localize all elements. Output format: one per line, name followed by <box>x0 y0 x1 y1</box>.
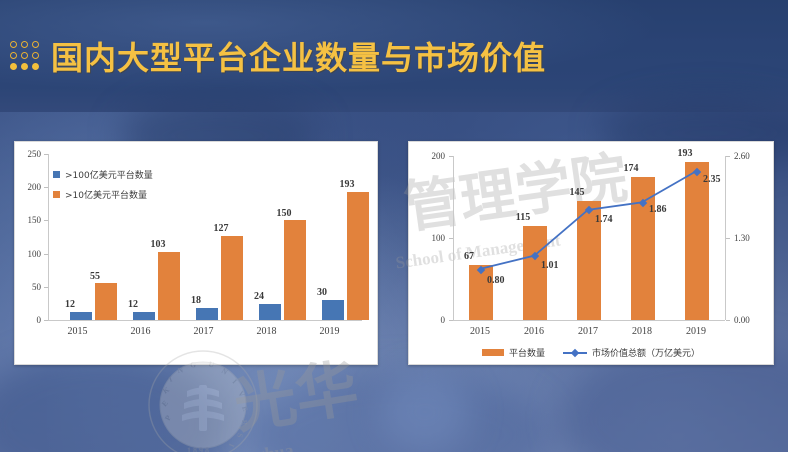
bar-orange-2017[interactable] <box>221 236 243 320</box>
value-label-orange-2015: 55 <box>84 271 106 282</box>
tick-mark <box>726 156 730 157</box>
svg-text:N: N <box>220 366 230 377</box>
legend-label-market-value: 市场价值总额（万亿美元） <box>592 346 700 359</box>
bar-blue-2018[interactable] <box>259 304 281 320</box>
left-chart-y-tick-label: 50 <box>17 282 41 292</box>
legend-swatch-orange-icon <box>53 191 60 198</box>
dot-grid-icon <box>10 41 39 72</box>
svg-text:V: V <box>236 389 247 399</box>
left-chart-y-tick-label: 0 <box>17 315 41 325</box>
left-chart-y-tick-label: 200 <box>17 182 41 192</box>
right-chart-x-tick-label: 2015 <box>453 326 507 337</box>
right-chart-y-tick-label: 200 <box>419 151 445 161</box>
tick-mark <box>726 238 730 239</box>
svg-text:G: G <box>190 360 197 369</box>
bar-blue-2017[interactable] <box>196 308 218 320</box>
left-chart-legend: >100亿美元平台数量 >10亿美元平台数量 <box>53 168 153 208</box>
left-chart-x-tick-label: 2017 <box>180 326 227 337</box>
right-chart-y2-tick-label: 2.60 <box>734 151 750 161</box>
right-chart-plot-area: 管理学院 School of Management 200 100 0 2.60… <box>409 142 773 364</box>
value-label-orange-2016: 103 <box>147 239 169 250</box>
legend-item-platform-count[interactable]: 平台数量 <box>482 346 545 359</box>
legend-item-orange[interactable]: >10亿美元平台数量 <box>53 188 153 201</box>
right-chart-panel: 管理学院 School of Management 200 100 0 2.60… <box>408 141 774 365</box>
background-blur-blob <box>380 372 470 452</box>
left-chart-y-tick-label: 250 <box>17 149 41 159</box>
right-chart-x-tick-label: 2018 <box>615 326 669 337</box>
value-label-value-2015: 0.80 <box>487 275 505 286</box>
background-blur-blob <box>0 350 230 452</box>
bar-blue-2019[interactable] <box>322 300 344 320</box>
bar-count-2019[interactable] <box>685 162 709 320</box>
value-label-count-2015: 67 <box>457 251 481 262</box>
tick-mark <box>726 320 730 321</box>
legend-item-market-value[interactable]: 市场价值总额（万亿美元） <box>563 346 700 359</box>
slide-canvas: 国内大型平台企业数量与市场价值 P E K I <box>0 0 788 452</box>
right-chart-y-tick-label: 100 <box>419 233 445 243</box>
tick-mark <box>44 320 48 321</box>
value-label-blue-2015: 12 <box>59 299 81 310</box>
right-chart-legend: 平台数量 市场价值总额（万亿美元） <box>409 346 773 359</box>
value-label-orange-2018: 150 <box>273 208 295 219</box>
svg-text:I: I <box>227 442 236 448</box>
svg-text:R: R <box>240 420 249 427</box>
legend-label-orange: >10亿美元平台数量 <box>65 188 147 201</box>
value-label-orange-2019: 193 <box>336 179 358 190</box>
bar-orange-2018[interactable] <box>284 220 306 320</box>
legend-swatch-line-icon <box>563 348 587 357</box>
value-label-value-2018: 1.86 <box>649 204 667 215</box>
bar-orange-2019[interactable] <box>347 192 369 320</box>
value-label-blue-2019: 30 <box>311 287 333 298</box>
right-chart-y2-tick-label: 0.00 <box>734 315 750 325</box>
right-chart-x-axis <box>453 320 725 321</box>
left-chart-x-tick-label: 2016 <box>117 326 164 337</box>
bar-orange-2016[interactable] <box>158 252 180 320</box>
right-chart-x-tick-label: 2017 <box>561 326 615 337</box>
left-chart-y-tick-label: 100 <box>17 249 41 259</box>
bar-blue-2016[interactable] <box>133 312 155 320</box>
legend-swatch-bar-icon <box>482 349 504 356</box>
left-chart-x-tick-label: 2015 <box>54 326 101 337</box>
tick-mark <box>449 320 453 321</box>
value-label-count-2018: 174 <box>619 163 643 174</box>
left-chart-y-tick-label: 150 <box>17 215 41 225</box>
value-label-value-2017: 1.74 <box>595 214 613 225</box>
value-label-blue-2017: 18 <box>185 295 207 306</box>
value-label-count-2016: 115 <box>511 212 535 223</box>
bar-blue-2015[interactable] <box>70 312 92 320</box>
left-chart-x-axis <box>48 320 362 321</box>
value-label-value-2016: 1.01 <box>541 260 559 271</box>
right-chart-y-tick-label: 0 <box>419 315 445 325</box>
value-label-value-2019: 2.35 <box>703 174 721 185</box>
value-label-orange-2017: 127 <box>210 223 232 234</box>
bar-orange-2015[interactable] <box>95 283 117 320</box>
legend-swatch-blue-icon <box>53 171 60 178</box>
value-label-blue-2016: 12 <box>122 299 144 310</box>
legend-item-blue[interactable]: >100亿美元平台数量 <box>53 168 153 181</box>
left-chart-plot-area: P E K I N G U N I V E R S I T Y 1898 <box>15 142 377 364</box>
left-chart-panel: P E K I N G U N I V E R S I T Y 1898 <box>14 141 378 365</box>
legend-label-blue: >100亿美元平台数量 <box>65 168 153 181</box>
left-chart-x-tick-label: 2019 <box>306 326 353 337</box>
right-chart-bars <box>453 156 725 320</box>
slide-header: 国内大型平台企业数量与市场价值 <box>10 26 546 86</box>
svg-text:U: U <box>207 359 215 369</box>
right-chart-x-tick-label: 2019 <box>669 326 723 337</box>
value-label-blue-2018: 24 <box>248 291 270 302</box>
right-chart-x-tick-label: 2016 <box>507 326 561 337</box>
value-label-count-2019: 193 <box>673 148 697 159</box>
left-chart-x-tick-label: 2018 <box>243 326 290 337</box>
legend-label-platform-count: 平台数量 <box>509 346 545 359</box>
svg-text:S: S <box>235 433 245 439</box>
svg-text:E: E <box>240 405 250 413</box>
svg-text:I: I <box>231 377 240 385</box>
value-label-count-2017: 145 <box>565 187 589 198</box>
page-title: 国内大型平台企业数量与市场价值 <box>51 33 546 79</box>
bar-count-2016[interactable] <box>523 226 547 320</box>
right-chart-y2-tick-label: 1.30 <box>734 233 750 243</box>
